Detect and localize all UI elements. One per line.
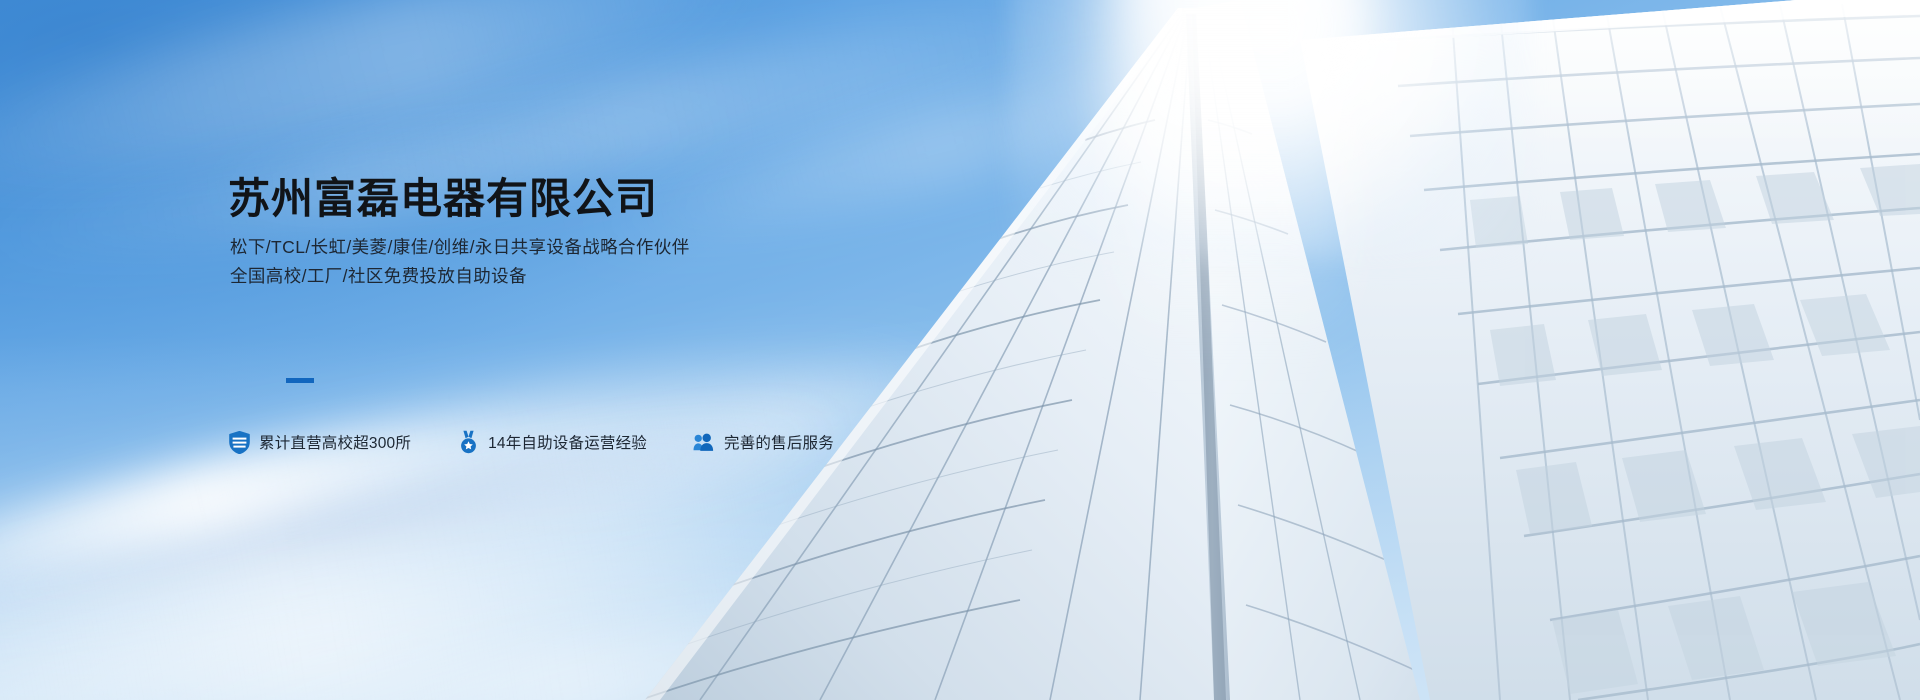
medal-icon: [457, 430, 479, 454]
banner-content: 苏州富磊电器有限公司 松下/TCL/长虹/美菱/康佳/创维/永日共享设备战略合作…: [228, 0, 1128, 700]
feature-label: 完善的售后服务: [724, 431, 834, 453]
hero-banner: 苏州富磊电器有限公司 松下/TCL/长虹/美菱/康佳/创维/永日共享设备战略合作…: [0, 0, 1920, 700]
banner-subtitle-line-1: 松下/TCL/长虹/美菱/康佳/创维/永日共享设备战略合作伙伴: [230, 234, 690, 259]
feature-label: 累计直营高校超300所: [259, 431, 411, 453]
feature-item-experience: 14年自助设备运营经验: [457, 430, 647, 454]
accent-divider: [286, 378, 314, 383]
feature-label: 14年自助设备运营经验: [488, 431, 647, 453]
banner-subtitle-line-2: 全国高校/工厂/社区免费投放自助设备: [230, 263, 527, 288]
people-icon: [693, 430, 715, 454]
feature-item-service: 完善的售后服务: [693, 430, 834, 454]
feature-item-campuses: 累计直营高校超300所: [228, 430, 411, 454]
company-title: 苏州富磊电器有限公司: [228, 176, 658, 222]
feature-list: 累计直营高校超300所 14年自助设备运营经验: [228, 430, 834, 454]
shield-icon: [228, 430, 250, 454]
